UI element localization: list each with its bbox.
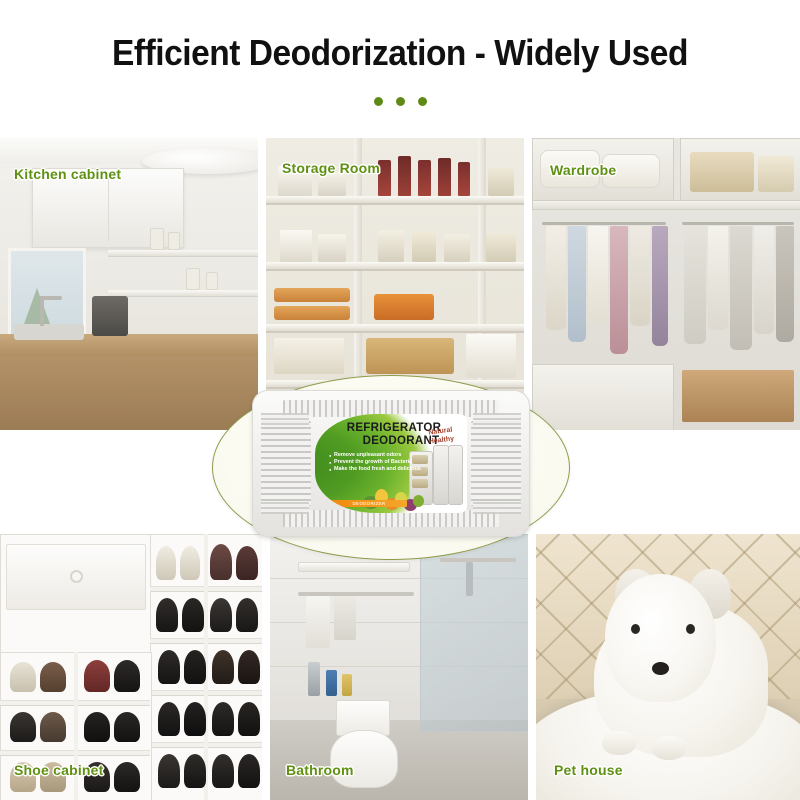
shoe bbox=[84, 660, 110, 692]
shoe bbox=[10, 662, 36, 692]
shoe bbox=[158, 754, 180, 788]
storage-box bbox=[758, 156, 794, 192]
dog-paw bbox=[652, 736, 686, 760]
scene-label-shoe-cabinet: Shoe cabinet bbox=[14, 762, 104, 778]
scene-wardrobe: Wardrobe bbox=[532, 138, 800, 430]
shelf bbox=[266, 196, 524, 205]
box bbox=[374, 294, 434, 320]
bottle bbox=[398, 156, 411, 196]
shoe bbox=[10, 712, 36, 742]
divider bbox=[532, 200, 800, 210]
basket bbox=[366, 338, 454, 374]
shoe bbox=[180, 546, 200, 580]
garment bbox=[588, 226, 608, 322]
product-package: REFRIGERATOR DEODORANT Natural Healthy R… bbox=[252, 390, 530, 537]
vent-slots-corner bbox=[261, 502, 309, 514]
garment bbox=[652, 226, 668, 346]
jar bbox=[186, 268, 200, 290]
shoe bbox=[184, 754, 206, 788]
scene-label-wardrobe: Wardrobe bbox=[550, 162, 616, 178]
shoe bbox=[212, 754, 234, 788]
bottle bbox=[458, 162, 470, 196]
scene-bathroom: Bathroom bbox=[270, 534, 528, 800]
jar bbox=[168, 232, 180, 250]
product-benefits-list: Remove unpleasant odors Prevent the grow… bbox=[329, 452, 421, 474]
garment bbox=[630, 226, 650, 326]
separator-dot bbox=[396, 97, 405, 106]
shelf bbox=[266, 262, 524, 271]
bottle bbox=[342, 674, 352, 696]
floor bbox=[270, 720, 528, 800]
canister bbox=[444, 234, 470, 262]
product-infographic: Efficient Deodorization - Widely Used bbox=[0, 0, 800, 800]
bread bbox=[274, 288, 350, 302]
shower-rail bbox=[440, 558, 516, 562]
towel bbox=[334, 596, 356, 640]
garment bbox=[776, 226, 794, 342]
shoe bbox=[210, 598, 232, 632]
garment bbox=[684, 226, 706, 344]
shelf bbox=[266, 324, 524, 333]
bottle bbox=[326, 670, 337, 696]
vent-slots-right bbox=[471, 421, 521, 506]
separator-dot bbox=[418, 97, 427, 106]
shoe bbox=[212, 702, 234, 736]
shelf bbox=[108, 290, 258, 297]
hanger-rod bbox=[682, 222, 794, 225]
scene-label-storage-room: Storage Room bbox=[282, 160, 380, 176]
shoe bbox=[156, 598, 178, 632]
dog-head bbox=[605, 574, 716, 702]
benefit-item: Remove unpleasant odors bbox=[329, 452, 421, 459]
wardrobe-lower-shelf bbox=[532, 364, 674, 430]
page-title: Efficient Deodorization - Widely Used bbox=[28, 32, 772, 74]
benefit-item: Make the food fresh and delicious bbox=[329, 466, 421, 473]
shower-glass bbox=[420, 534, 528, 732]
shoe bbox=[158, 702, 180, 736]
vent-slots-corner bbox=[473, 502, 521, 514]
shoe bbox=[40, 712, 66, 742]
separator-dot bbox=[374, 97, 383, 106]
tree bbox=[24, 288, 50, 324]
garment bbox=[708, 226, 728, 330]
shoe bbox=[182, 598, 204, 632]
towel bbox=[306, 596, 330, 648]
product-strip-text: DEODORIZER bbox=[331, 500, 407, 507]
scene-kitchen-cabinet: Kitchen cabinet bbox=[0, 138, 258, 430]
canister bbox=[412, 232, 436, 262]
shoe bbox=[212, 650, 234, 684]
shoe bbox=[156, 546, 176, 580]
storage-box bbox=[690, 152, 754, 192]
garment bbox=[546, 226, 566, 330]
shoe bbox=[84, 712, 110, 742]
garment bbox=[754, 226, 774, 334]
garment bbox=[568, 226, 586, 342]
garment bbox=[610, 226, 628, 354]
shoe bbox=[40, 662, 66, 692]
bottle bbox=[418, 160, 431, 196]
shoe bbox=[114, 660, 140, 692]
counter-base bbox=[0, 356, 258, 430]
shoe bbox=[238, 650, 260, 684]
vent-slots-left bbox=[261, 421, 311, 506]
shower-head bbox=[466, 562, 473, 596]
container bbox=[466, 334, 516, 378]
scene-label-bathroom: Bathroom bbox=[286, 762, 354, 778]
shoe bbox=[114, 762, 140, 792]
dog-paw bbox=[602, 731, 636, 755]
container bbox=[274, 338, 344, 374]
bread bbox=[274, 306, 350, 320]
benefit-item: Prevent the growth of Bacteria bbox=[329, 459, 421, 466]
dog-nose bbox=[652, 662, 669, 675]
shoe bbox=[158, 650, 180, 684]
bottle bbox=[438, 158, 451, 196]
shoe bbox=[236, 546, 258, 580]
shoe bbox=[210, 544, 232, 580]
vent-slots-corner bbox=[261, 413, 309, 425]
shoe bbox=[236, 598, 258, 632]
bottle bbox=[308, 662, 320, 696]
garment bbox=[730, 226, 752, 350]
canister bbox=[486, 234, 516, 262]
faucet-icon bbox=[40, 296, 44, 326]
wall-shelf bbox=[298, 562, 410, 572]
coffee-machine bbox=[92, 296, 128, 336]
shoe bbox=[184, 702, 206, 736]
dot-separator bbox=[0, 97, 800, 106]
shelf bbox=[108, 250, 258, 257]
drawer-knob[interactable] bbox=[70, 570, 83, 583]
canister bbox=[488, 168, 514, 196]
canister bbox=[280, 230, 312, 262]
canister bbox=[318, 234, 346, 262]
shoe bbox=[184, 650, 206, 684]
shoe bbox=[114, 712, 140, 742]
hanger-rod bbox=[542, 222, 666, 225]
canister bbox=[378, 230, 404, 262]
jar bbox=[150, 228, 164, 250]
scene-label-kitchen-cabinet: Kitchen cabinet bbox=[14, 166, 121, 182]
sink bbox=[14, 324, 84, 340]
drawer bbox=[682, 370, 794, 422]
scene-pet-house: Pet house bbox=[536, 534, 800, 800]
toilet bbox=[330, 730, 398, 788]
scene-shoe-cabinet: Shoe cabinet bbox=[0, 534, 262, 800]
vent-slots-corner bbox=[473, 413, 521, 425]
jar bbox=[206, 272, 218, 290]
shoe bbox=[238, 702, 260, 736]
scene-label-pet-house: Pet house bbox=[554, 762, 623, 778]
product-label: REFRIGERATOR DEODORANT Natural Healthy R… bbox=[315, 414, 467, 513]
shoe bbox=[238, 754, 260, 788]
